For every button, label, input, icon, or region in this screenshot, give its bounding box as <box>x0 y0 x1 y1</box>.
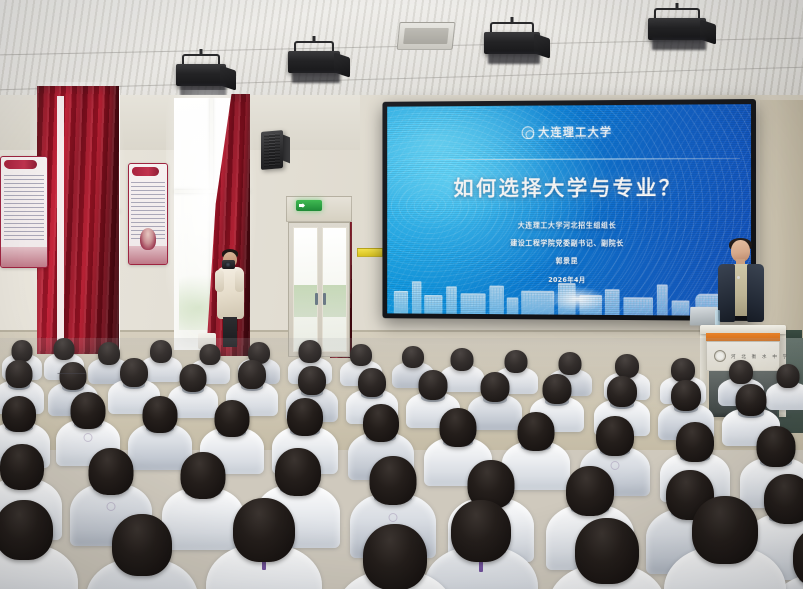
audience-member-foreground <box>206 498 322 589</box>
audience-member-foreground <box>336 524 454 589</box>
curtain-light-gap <box>57 96 64 348</box>
hall-entry-door[interactable] <box>288 222 350 357</box>
student-head <box>363 524 427 589</box>
stage-light-body <box>176 64 226 86</box>
audience-member-foreground <box>664 496 786 589</box>
student-head <box>440 408 477 447</box>
glasses-icon <box>58 373 86 377</box>
presenter-jacket-left <box>718 264 735 322</box>
water-bottle <box>715 310 720 326</box>
door-foliage-reflection <box>323 285 346 317</box>
wall-speaker-icon <box>261 130 283 170</box>
student-head <box>215 400 250 437</box>
student-head <box>559 352 582 375</box>
poster-header-bar <box>5 160 37 169</box>
door-glass-panel <box>293 227 318 352</box>
student-head <box>518 412 555 451</box>
student-head <box>275 448 321 496</box>
student-head <box>180 364 207 392</box>
student-head <box>60 362 87 390</box>
stage-light-body <box>484 32 540 54</box>
student-head <box>12 340 33 362</box>
student-head <box>370 456 417 505</box>
presenter-jacket-right <box>747 264 764 322</box>
student-head <box>607 376 637 407</box>
student-head <box>358 368 386 397</box>
student-head <box>736 384 767 416</box>
student-head <box>2 396 36 432</box>
stage-light-body <box>648 18 706 40</box>
stage-light-shadow <box>488 52 540 64</box>
student-head <box>566 466 614 516</box>
yellow-wall-sign <box>357 248 383 257</box>
student-head <box>615 354 639 378</box>
presentation-slide: 大连理工大学 DALIAN UNIVERSITY OF TECHNOLOGY 如… <box>387 104 751 316</box>
student-head <box>451 348 474 371</box>
student-head <box>299 340 322 363</box>
window-curtain[interactable] <box>37 86 119 354</box>
student-head <box>0 500 53 560</box>
student-head <box>505 350 528 373</box>
student-head <box>671 380 701 411</box>
student-head <box>181 452 226 499</box>
student-head <box>363 404 399 442</box>
led-scanline-overlay <box>387 104 751 316</box>
wall-trim-line <box>0 330 803 332</box>
camera-operator-arm-right <box>235 270 244 292</box>
student-head <box>6 360 33 388</box>
student-head <box>287 398 323 436</box>
audience-member-foreground <box>548 518 666 589</box>
stage-light-icon <box>648 8 706 44</box>
presenter-lapel-mic-icon <box>737 276 740 279</box>
poster-body-text <box>4 175 45 243</box>
stage-light-shadow <box>292 71 340 83</box>
student-head <box>596 416 634 456</box>
door-glass-panel <box>322 227 347 352</box>
student-head <box>729 360 753 384</box>
student-head <box>419 370 448 400</box>
curtain-fold-texture <box>37 86 119 354</box>
audience-seating <box>0 338 803 589</box>
student-head <box>692 496 758 564</box>
student-head <box>350 344 372 366</box>
student-head <box>238 360 266 389</box>
camera-icon <box>222 260 235 269</box>
student-head <box>233 498 295 562</box>
student-head <box>402 346 424 368</box>
lecture-hall-scene: 大连理工大学 DALIAN UNIVERSITY OF TECHNOLOGY 如… <box>0 0 803 589</box>
door-handle[interactable] <box>323 293 326 305</box>
wall-poster-right <box>128 163 168 265</box>
student-head <box>451 500 511 562</box>
student-head <box>112 514 172 576</box>
audience-member-foreground <box>0 500 78 589</box>
stage-light-icon <box>176 54 226 88</box>
wall-poster-left <box>0 156 48 268</box>
stage-light-body <box>288 51 340 73</box>
camera-operator-arm-left <box>215 270 224 292</box>
student-head <box>757 426 796 467</box>
speaker-mount-bracket <box>283 135 290 164</box>
camera-operator <box>214 248 246 346</box>
stage-light-icon <box>484 22 540 58</box>
student-head <box>71 392 106 429</box>
exit-sign-icon <box>296 200 322 211</box>
student-head <box>543 374 572 404</box>
student-head <box>143 396 178 433</box>
student-head <box>575 518 639 584</box>
audience-member-foreground <box>86 514 198 589</box>
stage-light-icon <box>288 41 340 75</box>
student-head <box>676 422 714 462</box>
led-display-screen: 大连理工大学 DALIAN UNIVERSITY OF TECHNOLOGY 如… <box>382 99 756 321</box>
door-handle[interactable] <box>315 293 318 305</box>
presenter <box>718 240 764 332</box>
student-head <box>200 344 221 365</box>
student-head <box>671 358 695 382</box>
poster-footer-decoration <box>1 247 47 267</box>
student-head <box>481 372 510 402</box>
student-head <box>54 338 75 360</box>
poster-portrait-illustration <box>140 228 156 250</box>
ceiling-ac-vent <box>397 22 456 50</box>
stage-light-shadow <box>652 38 706 50</box>
poster-header-bar <box>132 167 159 176</box>
student-head <box>89 448 134 495</box>
door-foliage-reflection <box>294 285 317 317</box>
student-head <box>120 358 148 387</box>
student-head <box>0 444 44 490</box>
podium-laptop <box>690 307 719 326</box>
student-head <box>298 366 326 395</box>
